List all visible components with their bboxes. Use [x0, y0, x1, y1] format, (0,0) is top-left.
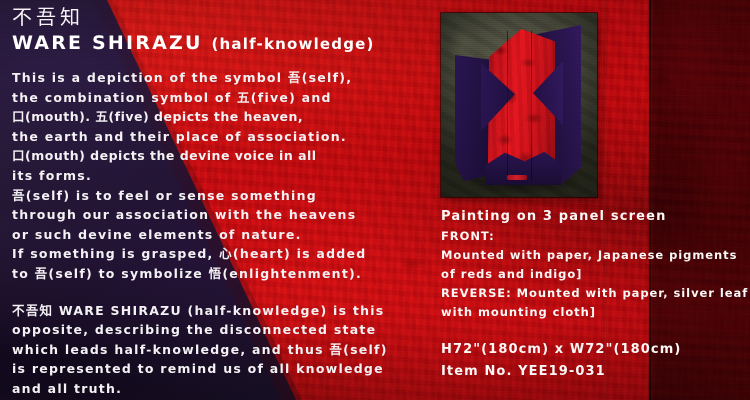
description-line: 口(mouth) depicts the devine voice in all: [12, 146, 412, 166]
reverse-detail-line: with mounting cloth]: [441, 303, 741, 322]
description-line: 不吾知 WARE SHIRAZU (half-knowledge) is thi…: [12, 301, 412, 321]
artwork-item-number: Item No. YEE19-031: [441, 361, 741, 383]
description-line: or such devine elements of nature.: [12, 225, 412, 245]
description-line: the earth and their place of association…: [12, 127, 412, 147]
description-panel: 不吾知 WARE SHIRAZU (half-knowledge) This i…: [12, 4, 412, 399]
medium-heading: Painting on 3 panel screen: [441, 206, 741, 227]
description-line: its forms.: [12, 166, 412, 186]
description-line: This is a depiction of the symbol 吾(self…: [12, 68, 412, 88]
description-line: opposite, describing the disconnected st…: [12, 320, 412, 340]
description-line: which leads half-knowledge, and thus 吾(s…: [12, 340, 412, 360]
artwork-dimensions: H72"(180cm) x W72"(180cm): [441, 339, 741, 361]
description-line: 吾(self) is to feel or sense something: [12, 186, 412, 206]
description-line: 口(mouth). 五(five) depicts the heaven,: [12, 107, 412, 127]
description-line: is represented to remind us of all knowl…: [12, 359, 412, 379]
description-line: If something is grasped, 心(heart) is add…: [12, 244, 412, 264]
front-detail-line: of reds and indigo]: [441, 265, 741, 284]
artwork-photo: [441, 13, 597, 197]
description-line: and all truth.: [12, 379, 412, 399]
description-paragraph-1: This is a depiction of the symbol 吾(self…: [12, 68, 412, 284]
reverse-detail-line: REVERSE: Mounted with paper, silver leaf: [441, 284, 741, 303]
photo-vignette: [441, 13, 597, 197]
description-line: to 吾(self) to symbolize 悟(enlightenment)…: [12, 264, 412, 284]
artwork-title-romaji-gloss: (half-knowledge): [211, 35, 374, 53]
front-label: FRONT:: [441, 227, 741, 246]
specifications-panel: Painting on 3 panel screen FRONT: Mounte…: [441, 206, 741, 382]
artwork-title-romaji: WARE SHIRAZU (half-knowledge): [12, 30, 412, 57]
artwork-title-romaji-main: WARE SHIRAZU: [12, 32, 203, 54]
artwork-title-japanese: 不吾知: [12, 4, 412, 30]
front-detail-line: Mounted with paper, Japanese pigments: [441, 246, 741, 265]
spec-spacer: [441, 322, 741, 339]
description-line: the combination symbol of 五(five) and: [12, 88, 412, 108]
description-paragraph-2: 不吾知 WARE SHIRAZU (half-knowledge) is thi…: [12, 301, 412, 399]
artwork-info-card: 不吾知 WARE SHIRAZU (half-knowledge) This i…: [0, 0, 750, 400]
description-line: through our association with the heavens: [12, 205, 412, 225]
